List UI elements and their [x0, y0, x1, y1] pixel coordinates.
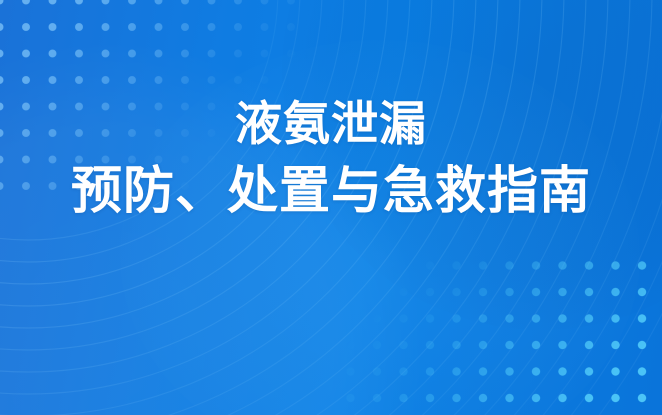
- title-line-secondary: 预防、处置与急救指南: [0, 161, 662, 221]
- poster-banner: 液氨泄漏 预防、处置与急救指南: [0, 0, 662, 415]
- title-line-primary: 液氨泄漏: [0, 96, 662, 151]
- poster-title: 液氨泄漏 预防、处置与急救指南: [0, 96, 662, 222]
